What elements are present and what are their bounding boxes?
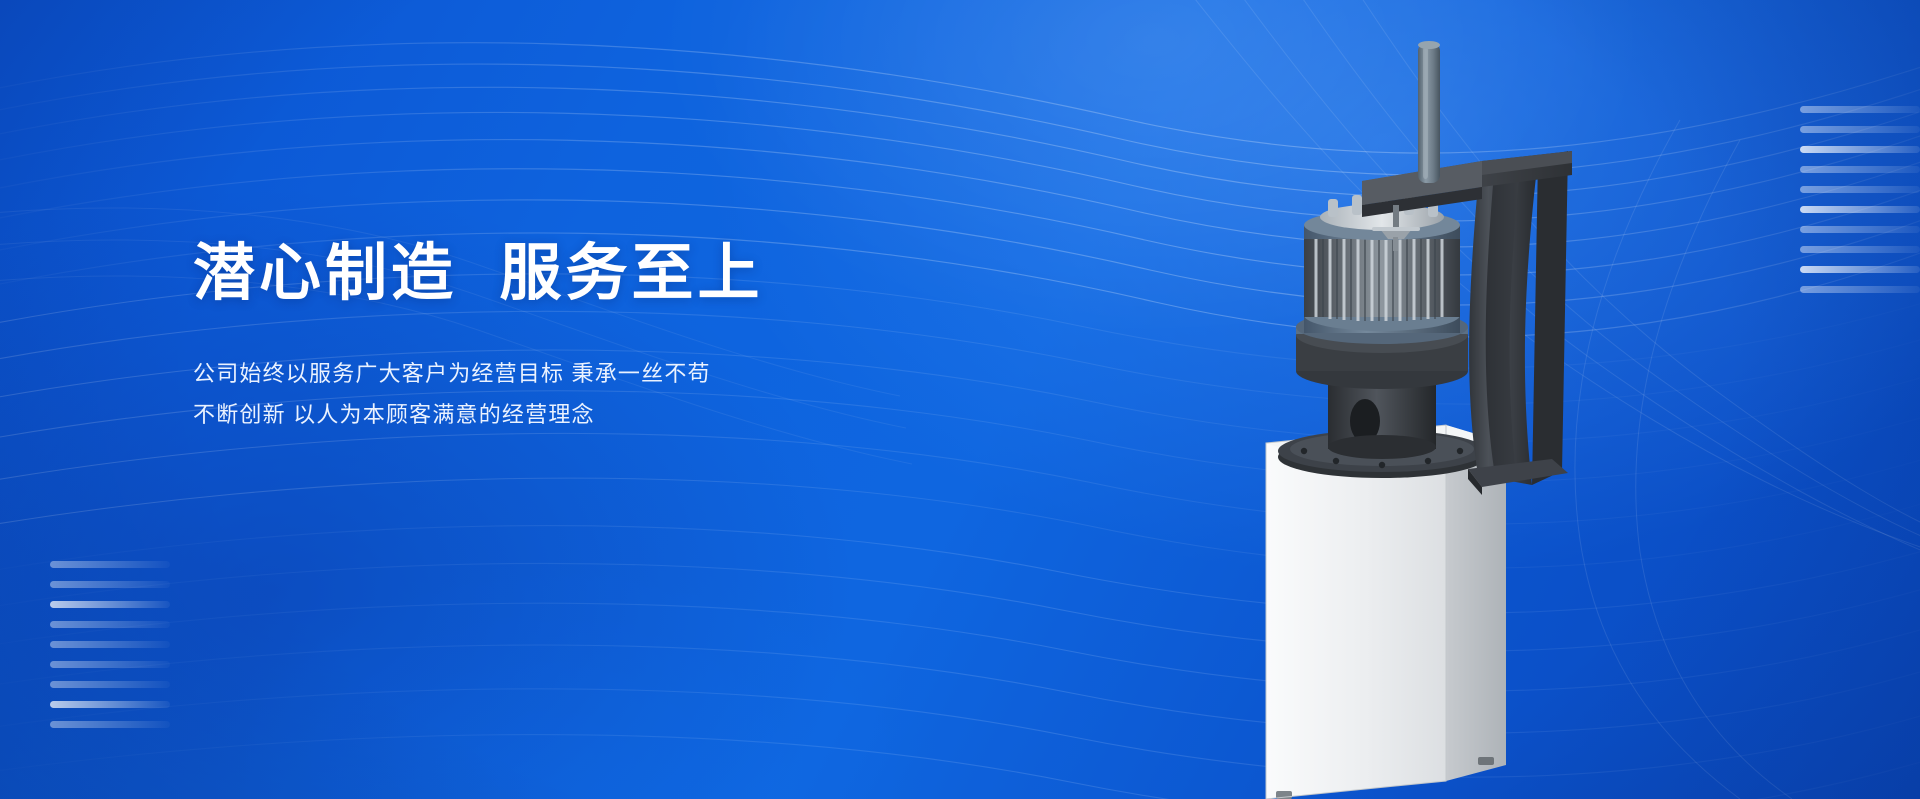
product-machine-image [1232,39,1652,799]
gradient-bar [1800,126,1920,133]
hero-banner: 潜心制造 服务至上 公司始终以服务广大客户为经营目标 秉承一丝不苟 不断创新 以… [0,0,1920,799]
gradient-bar [1800,226,1920,233]
gradient-bar [50,621,170,628]
hero-subtitle: 公司始终以服务广大客户为经营目标 秉承一丝不苟 不断创新 以人为本顾客满意的经营… [193,353,913,435]
gradient-bar [1800,146,1920,153]
decor-bars-right [1800,106,1920,306]
machine-column [1468,151,1568,495]
hero-headline: 潜心制造 服务至上 [193,243,913,305]
hero-subtitle-line-2: 不断创新 以人为本顾客满意的经营理念 [193,394,913,435]
gradient-bar [50,561,170,568]
gradient-bar [50,661,170,668]
gradient-bar [1800,286,1920,293]
gradient-bar [50,721,170,728]
gradient-bar [50,581,170,588]
gradient-bar [1800,246,1920,253]
gradient-bar [1800,206,1920,213]
gradient-bar [1800,266,1920,273]
gradient-bar [50,601,170,608]
gradient-bar [1800,186,1920,193]
machine-vertical-rod [1418,41,1440,183]
gradient-bar [1800,106,1920,113]
hero-subtitle-line-1: 公司始终以服务广大客户为经营目标 秉承一丝不苟 [193,353,913,394]
decor-bars-left [50,561,170,741]
gradient-bar [50,681,170,688]
gradient-bar [1800,166,1920,173]
hero-copy: 潜心制造 服务至上 公司始终以服务广大客户为经营目标 秉承一丝不苟 不断创新 以… [193,243,913,435]
gradient-bar [50,641,170,648]
gradient-bar [50,701,170,708]
